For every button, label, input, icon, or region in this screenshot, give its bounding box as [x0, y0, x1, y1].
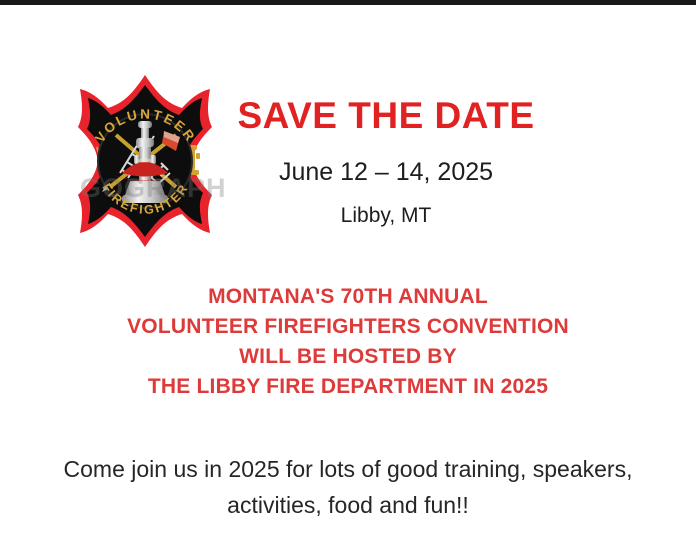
invitation-line-1: Come join us in 2025 for lots of good tr…	[60, 451, 636, 487]
convention-line-4: THE LIBBY FIRE DEPARTMENT IN 2025	[0, 372, 696, 402]
event-location: Libby, MT	[236, 204, 536, 228]
invitation-text: Come join us in 2025 for lots of good tr…	[60, 451, 636, 523]
convention-announcement: MONTANA'S 70TH ANNUAL VOLUNTEER FIREFIGH…	[0, 282, 696, 402]
volunteer-firefighter-badge: VOLUNTEER FIREFIGHTER GOGRAPH	[64, 69, 227, 254]
convention-line-2: VOLUNTEER FIREFIGHTERS CONVENTION	[0, 312, 696, 342]
save-the-date-flyer: VOLUNTEER FIREFIGHTER GOGRAPH SAVE THE D…	[0, 5, 696, 551]
invitation-line-2: activities, food and fun!!	[60, 487, 636, 523]
event-date: June 12 – 14, 2025	[236, 158, 536, 187]
convention-line-1: MONTANA'S 70TH ANNUAL	[0, 282, 696, 312]
page-title: SAVE THE DATE	[236, 95, 536, 137]
convention-line-3: WILL BE HOSTED BY	[0, 342, 696, 372]
